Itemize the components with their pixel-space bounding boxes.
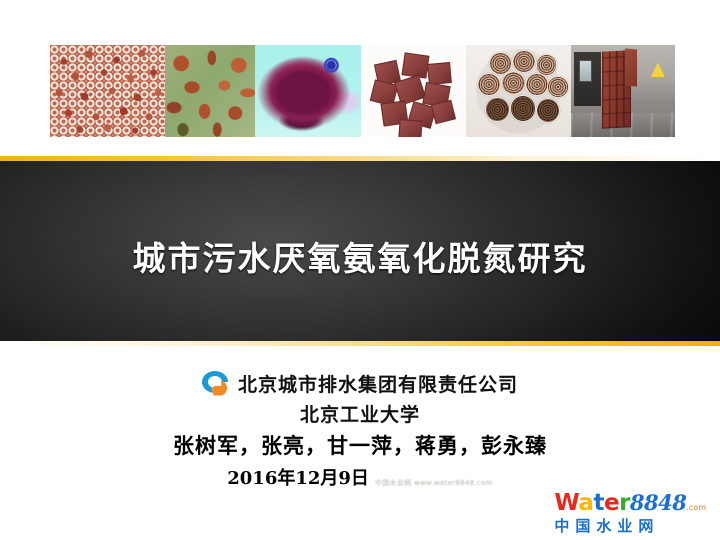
- logo-letter-a: a: [578, 490, 593, 516]
- window-shape: [579, 60, 592, 82]
- logo-letter-r: r: [619, 490, 630, 516]
- photo-strip: [50, 45, 675, 137]
- site-logo[interactable]: Water8848.com 中国水业网: [554, 492, 706, 534]
- logo-ring-hole-shape: [208, 376, 222, 388]
- photo-6-image: [571, 45, 675, 137]
- photo-honeycomb-carriers: [466, 45, 571, 137]
- water-drop-logo-icon: [202, 371, 230, 397]
- date-row: 2016年12月9日 中国水业网 www.water8848.com: [0, 464, 720, 490]
- page-title: 城市污水厌氧氨氧化脱氮研究: [0, 232, 720, 280]
- logo-tld: .com: [686, 503, 706, 512]
- photo-orange-granules-on-green: [165, 45, 255, 137]
- photo-red-brown-cubes: [361, 45, 466, 137]
- organization-row: 北京城市排水集团有限责任公司: [0, 370, 720, 397]
- site-logo-wordmark: Water8848.com: [554, 492, 706, 515]
- presentation-title-slide: 城市污水厌氧氨氧化脱氮研究 北京城市排水集团有限责任公司 北京工业大学 张树军，…: [0, 0, 720, 540]
- university-name: 北京工业大学: [0, 400, 720, 427]
- site-logo-chinese-name: 中国水业网: [554, 519, 706, 534]
- logo-letter-t: t: [593, 490, 604, 516]
- author-list: 张树军，张亮，甘一萍，蒋勇，彭永臻: [0, 430, 720, 460]
- photo-5-image: [466, 45, 571, 137]
- photo-4-image: [361, 45, 466, 137]
- logo-letter-w: W: [554, 490, 578, 516]
- photo-red-granular-sludge: [50, 45, 165, 137]
- photo-industrial-reactor-rack: [571, 45, 675, 137]
- logo-letter-e: e: [604, 490, 619, 516]
- organization-name: 北京城市排水集团有限责任公司: [238, 370, 518, 397]
- logo-number: 8848: [630, 490, 686, 515]
- presentation-date: 2016年12月9日: [227, 464, 369, 490]
- hazard-warning-icon: [650, 62, 665, 79]
- photo-1-image: [50, 45, 165, 137]
- red-rack-secondary-shape: [625, 48, 637, 86]
- photo-2-image: [165, 45, 255, 137]
- photo-purple-stained-cell: [255, 45, 361, 137]
- faint-watermark-text: 中国水业网 www.water8848.com: [375, 478, 493, 488]
- photo-3-image: [255, 45, 361, 137]
